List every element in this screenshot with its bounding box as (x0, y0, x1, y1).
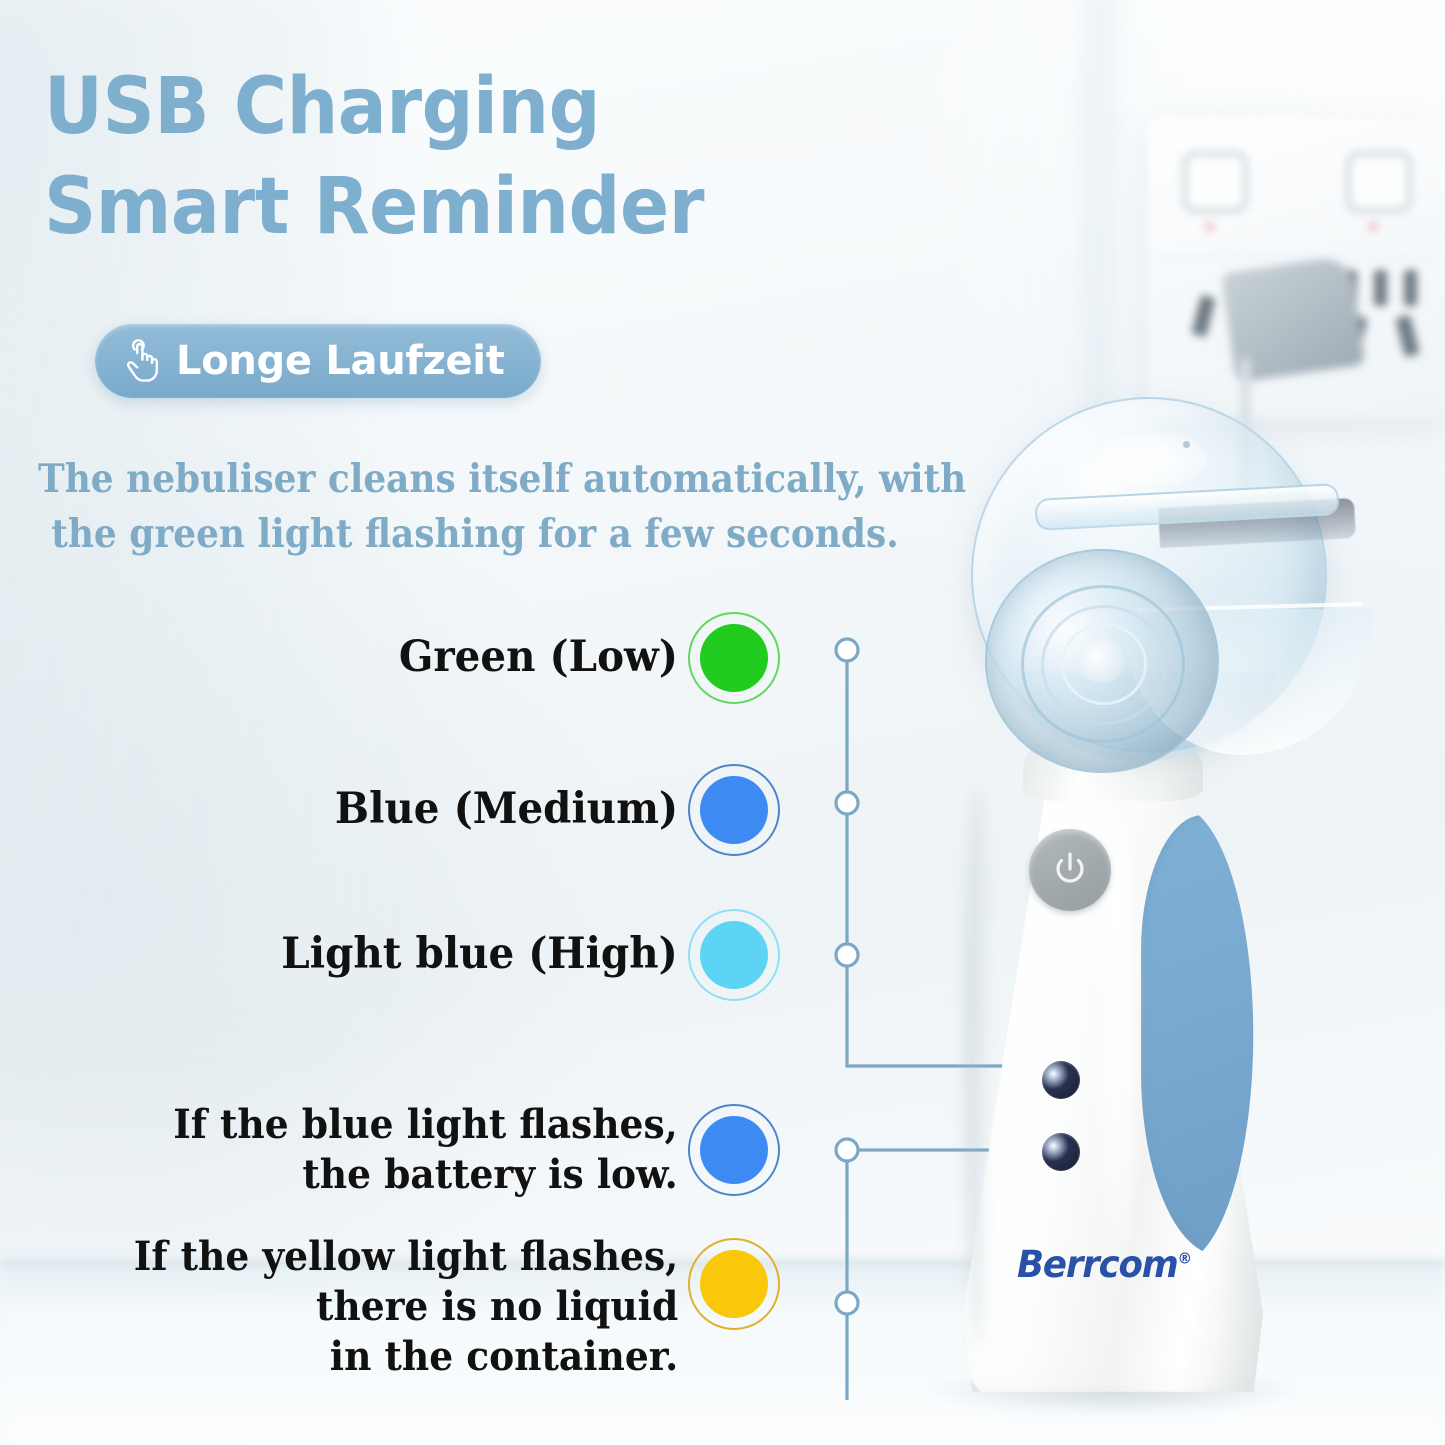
indicator-row-green: Green (Low) (0, 606, 790, 710)
dome-vent-pin (1183, 441, 1190, 448)
socket-switch-left (1182, 151, 1248, 213)
socket-hole-4 (1374, 270, 1387, 306)
indicator-row-liquid: If the yellow light flashes, there is no… (0, 1232, 790, 1432)
led-indicator-bottom (1042, 1133, 1080, 1171)
device-brand-mark: ® (1178, 1250, 1192, 1268)
socket-indicator-right (1369, 222, 1378, 231)
device-brand-logo: Berrcom® (1017, 1243, 1192, 1286)
indicator-dot-green (678, 606, 790, 710)
indicator-dot-battery (678, 1098, 790, 1202)
indicator-dot-core-liquid (700, 1250, 768, 1318)
indicator-label-blue: Blue (Medium) (335, 783, 678, 837)
device-accent-panel (1141, 815, 1263, 1255)
dome-glint (1097, 433, 1207, 487)
socket-divider (1158, 256, 1438, 258)
infographic-canvas: USB Charging Smart Reminder Longe Laufze… (0, 0, 1445, 1445)
indicator-dot-core-blue (700, 776, 768, 844)
device-left-shading (965, 785, 991, 1345)
indicator-dot-lightblue (678, 903, 790, 1007)
socket-hole-7 (1395, 315, 1419, 357)
indicator-dot-core-lightblue (700, 921, 768, 989)
indicator-dot-core-battery (700, 1116, 768, 1184)
led-indicator-top (1042, 1061, 1080, 1099)
indicator-list: Green (Low) Blue (Medium) Light blue (Hi… (0, 0, 800, 1445)
socket-hole-1 (1191, 295, 1215, 337)
socket-switch-right (1346, 151, 1412, 213)
indicator-dot-liquid (678, 1232, 790, 1336)
indicator-label-battery: If the blue light flashes, the battery i… (173, 1100, 678, 1200)
medication-cup-dome (971, 397, 1327, 753)
socket-hole-5 (1404, 270, 1417, 306)
indicator-label-lightblue: Light blue (High) (282, 928, 678, 982)
device-brand-name: Berrcom (1017, 1243, 1178, 1286)
nebuliser-device: Berrcom® (905, 385, 1375, 1425)
indicator-dot-core-green (700, 624, 768, 692)
indicator-row-lightblue: Light blue (High) (0, 903, 790, 1007)
mouthpiece-core (1077, 639, 1125, 683)
wall-power-socket (1148, 118, 1445, 418)
indicator-label-liquid: If the yellow light flashes, there is no… (134, 1232, 678, 1382)
mouthpiece (985, 549, 1219, 773)
power-button[interactable] (1029, 829, 1111, 911)
indicator-dot-blue (678, 758, 790, 862)
socket-indicator-left (1205, 222, 1214, 231)
indicator-row-battery: If the blue light flashes, the battery i… (0, 1080, 790, 1220)
indicator-label-green: Green (Low) (399, 631, 678, 685)
indicator-row-blue: Blue (Medium) (0, 758, 790, 862)
